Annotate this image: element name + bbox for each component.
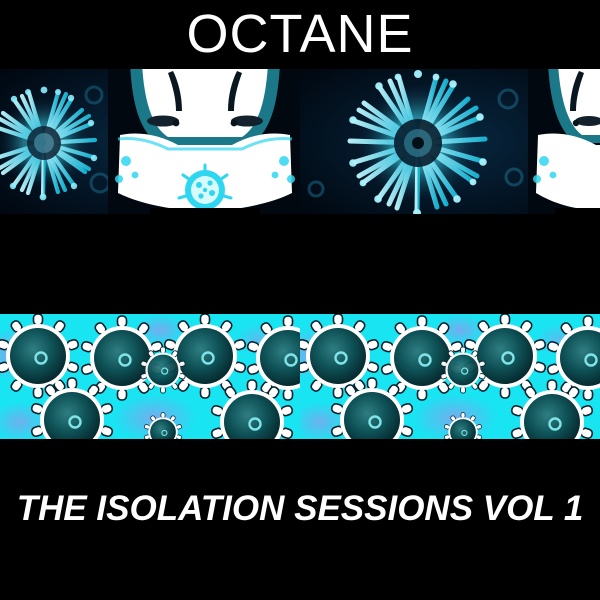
virus-face-artwork-icon (300, 65, 600, 218)
artwork-tile (300, 310, 600, 443)
virus-face-artwork-icon (0, 65, 300, 218)
coronavirus-artwork-icon (0, 310, 300, 443)
artist-name: OCTANE (0, 4, 600, 64)
artwork-tile (0, 310, 300, 443)
masked-face (108, 65, 300, 218)
album-cover: OCTANE (0, 0, 600, 600)
coronavirus-particles-band (0, 310, 600, 443)
virus-and-masked-face-band (0, 65, 600, 218)
artwork-tile (300, 65, 600, 218)
coronavirus-artwork-icon (300, 310, 600, 443)
artwork-tile (0, 65, 300, 218)
album-title: THE ISOLATION SESSIONS VOL 1 (0, 487, 600, 531)
